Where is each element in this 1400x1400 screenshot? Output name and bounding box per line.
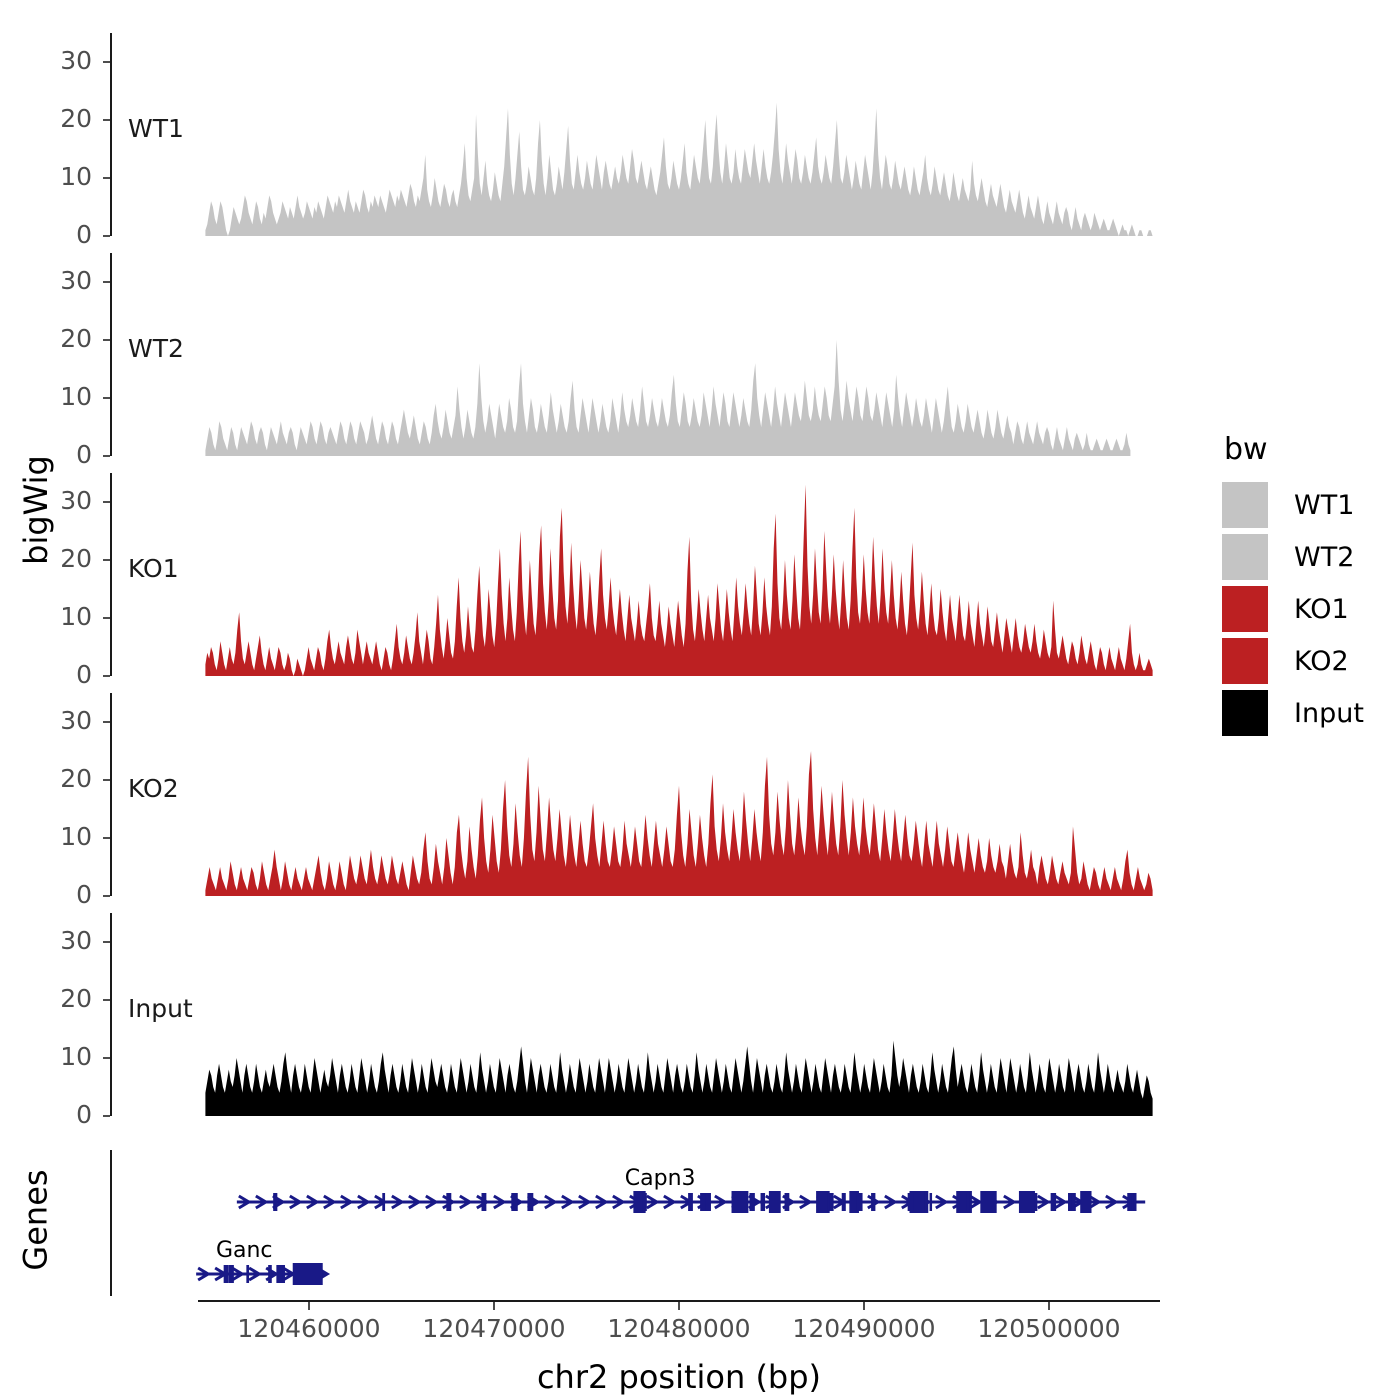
gene-exon (871, 1193, 875, 1211)
gene-exon (908, 1193, 914, 1211)
legend-key-swatch (1222, 534, 1268, 580)
y-axis-tick-label: 20 (0, 984, 92, 1013)
gene-exon (816, 1191, 828, 1213)
legend-item-wt1[interactable]: WT1 (1222, 479, 1364, 531)
y-axis-tick (103, 1057, 110, 1059)
y-axis-tick (103, 235, 110, 237)
genome-browser-figure: bigWig Genes 0102030WT10102030WT20102030… (0, 0, 1400, 1400)
x-axis-tick (308, 1302, 310, 1310)
track-area-path (205, 1041, 1152, 1116)
y-axis-tick-label: 30 (0, 486, 92, 515)
y-axis-tick-label: 20 (0, 544, 92, 573)
legend-item-label: KO1 (1294, 594, 1349, 625)
legend-items: WT1WT2KO1KO2Input (1222, 479, 1364, 739)
legend-key-swatch (1222, 586, 1268, 632)
gene-exon (700, 1193, 706, 1211)
y-axis-tick (103, 721, 110, 723)
gene-capn3[interactable] (237, 1191, 1145, 1213)
y-axis-tick (103, 119, 110, 121)
gene-exon (229, 1265, 234, 1283)
gene-exon (980, 1191, 996, 1213)
legend-key-swatch (1222, 482, 1268, 528)
gene-exon (511, 1193, 517, 1211)
track-area-wt2 (110, 253, 1188, 456)
x-axis-tick (493, 1302, 495, 1310)
y-axis-tick-label: 10 (0, 602, 92, 631)
legend-item-ko2[interactable]: KO2 (1222, 635, 1364, 687)
y-axis-tick (103, 397, 110, 399)
y-axis-tick-label: 0 (0, 220, 92, 249)
y-axis-tick-label: 0 (0, 880, 92, 909)
y-axis-tick (103, 61, 110, 63)
gene-exon (273, 1193, 277, 1211)
track-area-path (205, 103, 1152, 236)
gene-exon (446, 1193, 451, 1211)
y-axis-tick (103, 501, 110, 503)
track-area-path (205, 485, 1152, 676)
gene-exon (749, 1193, 754, 1211)
y-axis-tick (103, 281, 110, 283)
gene-exon (856, 1193, 862, 1211)
gene-exon (930, 1193, 933, 1211)
gene-exon (382, 1193, 385, 1211)
gene-ganc[interactable] (196, 1263, 327, 1285)
legend-item-label: Input (1294, 698, 1364, 729)
gene-exon (246, 1265, 249, 1283)
y-axis-tick (103, 999, 110, 1001)
y-axis-tick-label: 20 (0, 324, 92, 353)
gene-exon (1019, 1191, 1035, 1213)
gene-exon (268, 1265, 272, 1283)
gene-exon (527, 1193, 533, 1211)
y-axis-tick (103, 559, 110, 561)
gene-exon (1080, 1191, 1091, 1213)
genes-axis-title-text: Genes (17, 1169, 55, 1270)
track-area-path (205, 751, 1152, 896)
gene-exon (769, 1191, 781, 1213)
y-axis-tick (103, 941, 110, 943)
gene-exon (705, 1193, 711, 1211)
x-axis-tick (678, 1302, 680, 1310)
legend-item-ko1[interactable]: KO1 (1222, 583, 1364, 635)
y-axis-tick-label: 30 (0, 46, 92, 75)
x-axis-title: chr2 position (bp) (0, 1358, 1360, 1396)
y-axis-tick-label: 10 (0, 822, 92, 851)
y-axis-tick (103, 1115, 110, 1117)
gene-exon (1051, 1193, 1056, 1211)
gene-exon (276, 1265, 282, 1283)
gene-exon (966, 1193, 969, 1211)
track-area-ko2 (110, 693, 1188, 896)
genes-track-svg (110, 1150, 1188, 1296)
y-axis-tick (103, 779, 110, 781)
y-axis-tick-label: 10 (0, 1042, 92, 1071)
legend-title: bw (1224, 432, 1364, 467)
x-axis-tick (1048, 1302, 1050, 1310)
legend-key-swatch (1222, 638, 1268, 684)
y-axis-tick (103, 675, 110, 677)
track-area-wt1 (110, 33, 1188, 236)
y-axis-tick (103, 895, 110, 897)
y-axis-tick-label: 20 (0, 764, 92, 793)
y-axis-tick-label: 30 (0, 706, 92, 735)
gene-exon (842, 1193, 846, 1211)
y-axis-tick (103, 837, 110, 839)
gene-exon (224, 1265, 229, 1283)
x-axis-tick (863, 1302, 865, 1310)
y-axis-tick-label: 0 (0, 440, 92, 469)
gene-exon (642, 1193, 646, 1211)
gene-exon (785, 1193, 790, 1211)
y-axis-tick (103, 617, 110, 619)
gene-exon (761, 1193, 766, 1211)
y-axis-tick (103, 339, 110, 341)
genes-axis-title: Genes (6, 1145, 66, 1295)
gene-exon (293, 1263, 323, 1285)
gene-exon (1131, 1193, 1134, 1211)
y-axis-tick-label: 30 (0, 266, 92, 295)
y-axis-tick-label: 10 (0, 162, 92, 191)
legend-item-label: KO2 (1294, 646, 1349, 677)
legend-item-input[interactable]: Input (1222, 687, 1364, 739)
legend: bw WT1WT2KO1KO2Input (1222, 432, 1364, 739)
y-axis-tick-label: 0 (0, 660, 92, 689)
gene-exon (1071, 1193, 1076, 1211)
gene-exon (688, 1193, 693, 1211)
y-axis-tick (103, 177, 110, 179)
legend-item-label: WT2 (1294, 542, 1354, 573)
y-axis-tick-label: 20 (0, 104, 92, 133)
gene-exon (732, 1191, 749, 1213)
y-axis-tick (103, 455, 110, 457)
y-axis-tick-label: 10 (0, 382, 92, 411)
y-axis-tick-label: 0 (0, 1100, 92, 1129)
x-axis-tick-label: 120500000 (939, 1314, 1159, 1343)
legend-key-swatch (1222, 690, 1268, 736)
legend-item-wt2[interactable]: WT2 (1222, 531, 1364, 583)
track-area-ko1 (110, 473, 1188, 676)
track-area-input (110, 913, 1188, 1116)
legend-item-label: WT1 (1294, 490, 1354, 521)
gene-exon (282, 1265, 285, 1283)
y-axis-tick-label: 30 (0, 926, 92, 955)
track-area-path (205, 340, 1130, 456)
gene-exon (482, 1193, 487, 1211)
